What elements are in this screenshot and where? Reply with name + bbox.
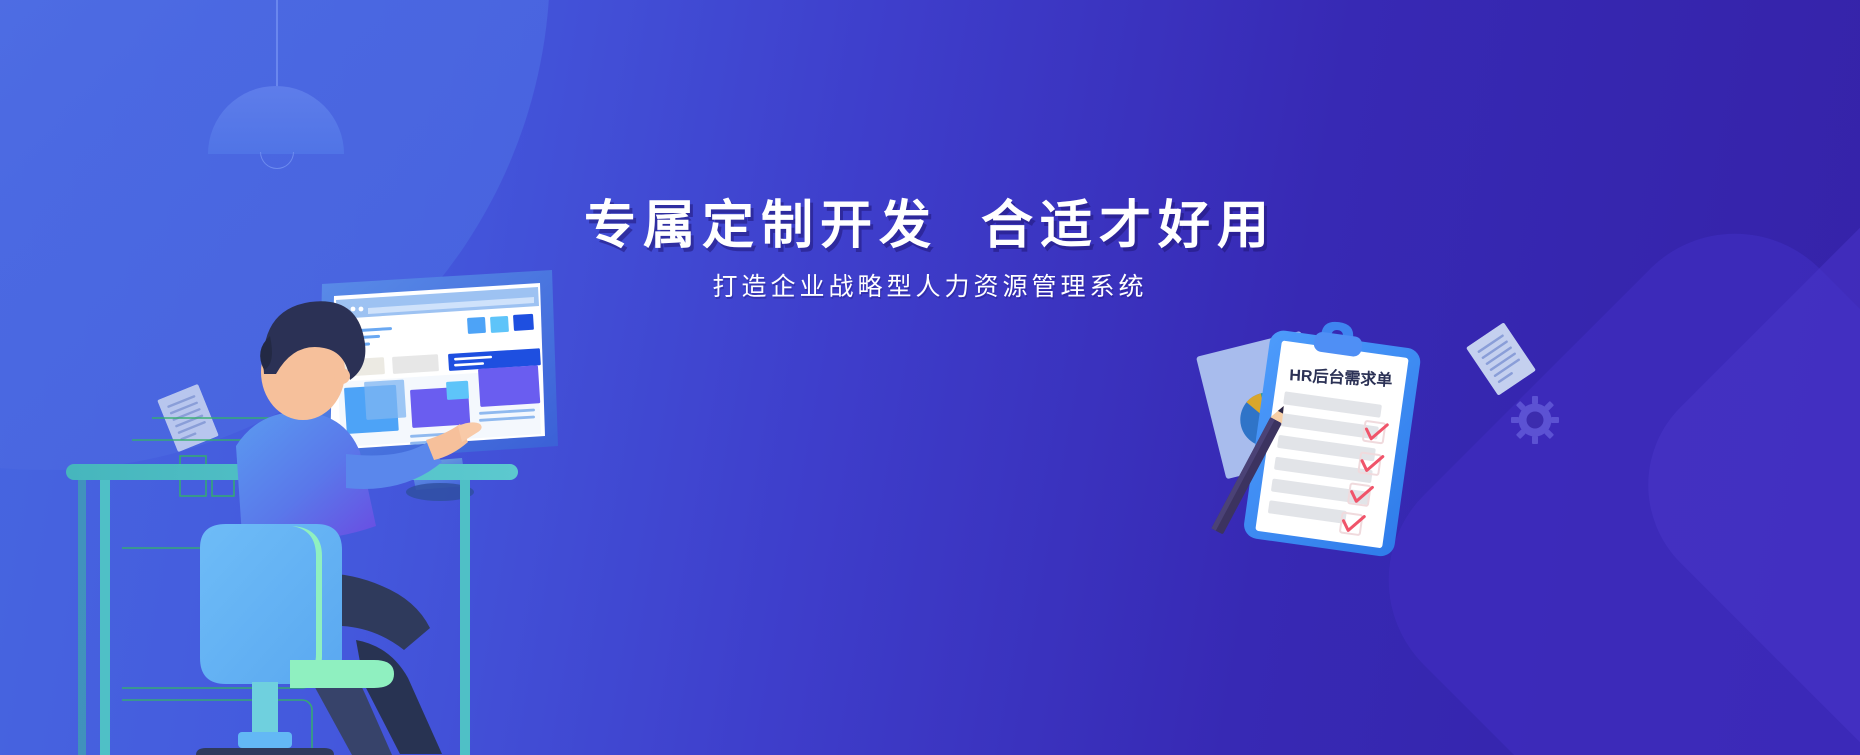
illustration-hr-clipboard: HR后台需求单 <box>1190 305 1520 565</box>
illustration-person-at-desk <box>60 250 620 755</box>
hero-subheadline: 打造企业战略型人力资源管理系统 <box>0 271 1860 304</box>
lamp-cord-icon <box>276 0 278 88</box>
hero-copy: 专属定制开发 合适才好用 打造企业战略型人力资源管理系统 <box>0 196 1860 304</box>
hero-headline: 专属定制开发 合适才好用 <box>0 196 1860 257</box>
lamp-bulb-icon <box>260 152 294 169</box>
lamp-shade-icon <box>208 86 344 154</box>
hero-banner: HR后台需求单 <box>0 0 1860 755</box>
